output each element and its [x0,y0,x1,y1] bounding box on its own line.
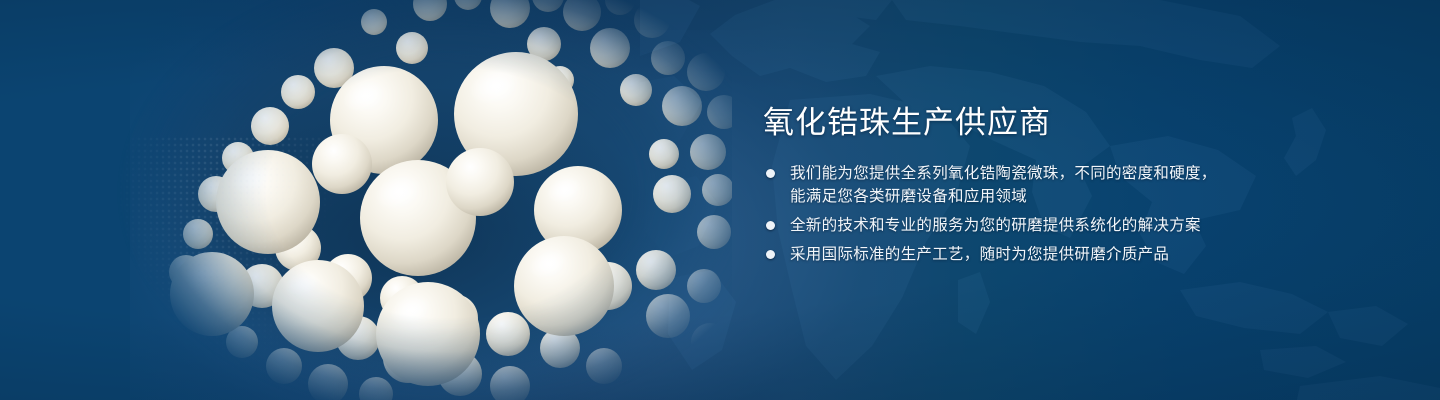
banner-headline: 氧化锆珠生产供应商 [763,106,1383,140]
feature-item-3: 采用国际标准的生产工艺，随时为您提供研磨介质产品 [763,243,1383,266]
banner-content: 氧化锆珠生产供应商 我们能为您提供全系列氧化锆陶瓷微珠，不同的密度和硬度， 能满… [763,106,1383,266]
bullet-dot-icon [766,221,775,230]
bullet-dot-icon [766,250,775,259]
feature-item-2-line-1: 全新的技术和专业的服务为您的研磨提供系统化的解决方案 [790,214,1383,237]
feature-item-1-line-1: 我们能为您提供全系列氧化锆陶瓷微珠，不同的密度和硬度， [790,162,1383,185]
feature-item-3-line-1: 采用国际标准的生产工艺，随时为您提供研磨介质产品 [790,243,1383,266]
bullet-dot-icon [766,169,775,178]
feature-item-1-line-2: 能满足您各类研磨设备和应用领域 [790,185,1383,208]
feature-item-2: 全新的技术和专业的服务为您的研磨提供系统化的解决方案 [763,214,1383,237]
feature-item-1: 我们能为您提供全系列氧化锆陶瓷微珠，不同的密度和硬度， 能满足您各类研磨设备和应… [763,162,1383,208]
feature-list: 我们能为您提供全系列氧化锆陶瓷微珠，不同的密度和硬度， 能满足您各类研磨设备和应… [763,162,1383,266]
hero-banner: 氧化锆珠生产供应商 我们能为您提供全系列氧化锆陶瓷微珠，不同的密度和硬度， 能满… [0,0,1440,400]
